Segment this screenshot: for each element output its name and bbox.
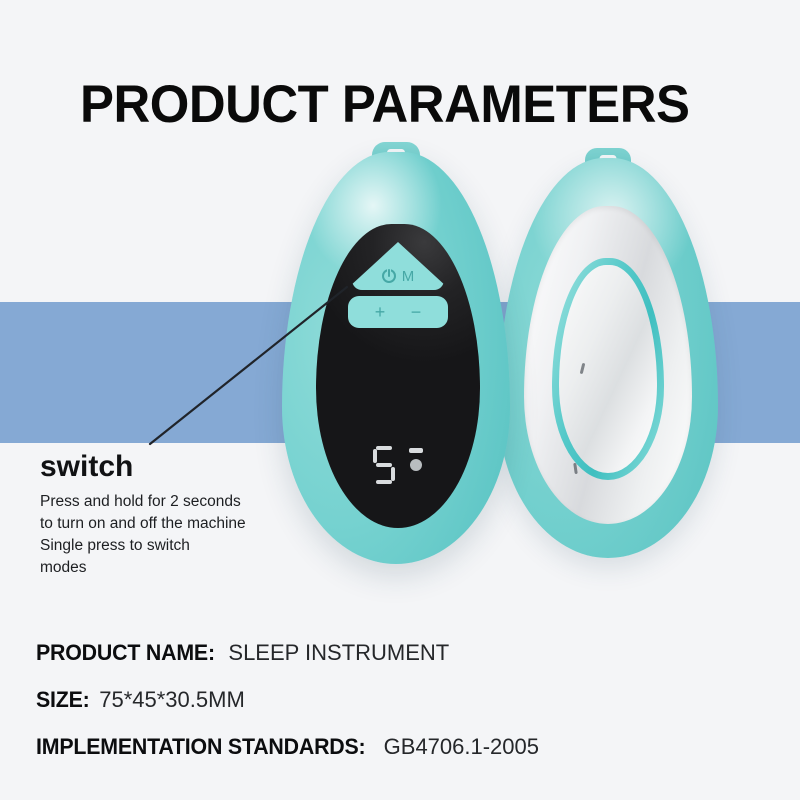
- device-contact-pad: [559, 265, 657, 473]
- segment-d: [376, 480, 392, 484]
- spec-row-implementation-standards: IMPLEMENTATION STANDARDS: GB4706.1-2005: [36, 734, 766, 760]
- spec-value: GB4706.1-2005: [384, 734, 539, 760]
- callout-title: switch: [40, 450, 340, 485]
- segment-f: [373, 449, 377, 463]
- device-shell: [498, 158, 718, 558]
- indicator-dot-icon: [410, 459, 422, 471]
- plus-icon: +: [375, 303, 386, 321]
- mode-indicator: [409, 446, 423, 482]
- segment-a: [376, 446, 392, 450]
- segment-e: [373, 467, 377, 481]
- callout-line: modes: [40, 557, 340, 579]
- switch-callout: switch Press and hold for 2 seconds to t…: [40, 450, 340, 579]
- mode-button-label: M: [402, 270, 415, 283]
- callout-line: Press and hold for 2 seconds: [40, 491, 340, 513]
- intensity-button[interactable]: + −: [348, 296, 448, 328]
- segment-g: [376, 463, 392, 467]
- segment-b: [391, 449, 395, 463]
- callout-description: Press and hold for 2 seconds to turn on …: [40, 491, 340, 579]
- led-digit-5: [373, 446, 395, 484]
- segment-c: [391, 467, 395, 481]
- spec-label: IMPLEMENTATION STANDARDS:: [36, 734, 365, 760]
- power-icon: [382, 269, 396, 283]
- minus-icon: −: [411, 303, 422, 321]
- spec-label: PRODUCT NAME:: [36, 640, 215, 666]
- device-outer-ring: [524, 206, 692, 524]
- pad-mark-icon: [573, 463, 578, 474]
- product-parameters-page: PRODUCT PARAMETERS: [0, 0, 800, 800]
- callout-line: to turn on and off the machine: [40, 513, 340, 535]
- spec-row-product-name: PRODUCT NAME: SLEEP INSTRUMENT: [36, 640, 766, 666]
- power-mode-button[interactable]: M: [352, 242, 444, 290]
- page-title: PRODUCT PARAMETERS: [80, 76, 689, 134]
- spec-list: PRODUCT NAME: SLEEP INSTRUMENT SIZE: 75*…: [36, 640, 766, 781]
- indicator-dash-icon: [409, 448, 423, 453]
- led-display: [373, 446, 423, 484]
- callout-line: Single press to switch: [40, 535, 340, 557]
- spec-label: SIZE:: [36, 687, 90, 713]
- device-face-panel: M + −: [316, 224, 480, 528]
- spec-value: 75*45*30.5MM: [99, 687, 245, 713]
- spec-row-size: SIZE: 75*45*30.5MM: [36, 687, 766, 713]
- device-inner-ring: [552, 258, 664, 480]
- pad-mark-icon: [580, 363, 586, 374]
- spec-value: SLEEP INSTRUMENT: [228, 640, 449, 666]
- device-back-view: [498, 158, 718, 558]
